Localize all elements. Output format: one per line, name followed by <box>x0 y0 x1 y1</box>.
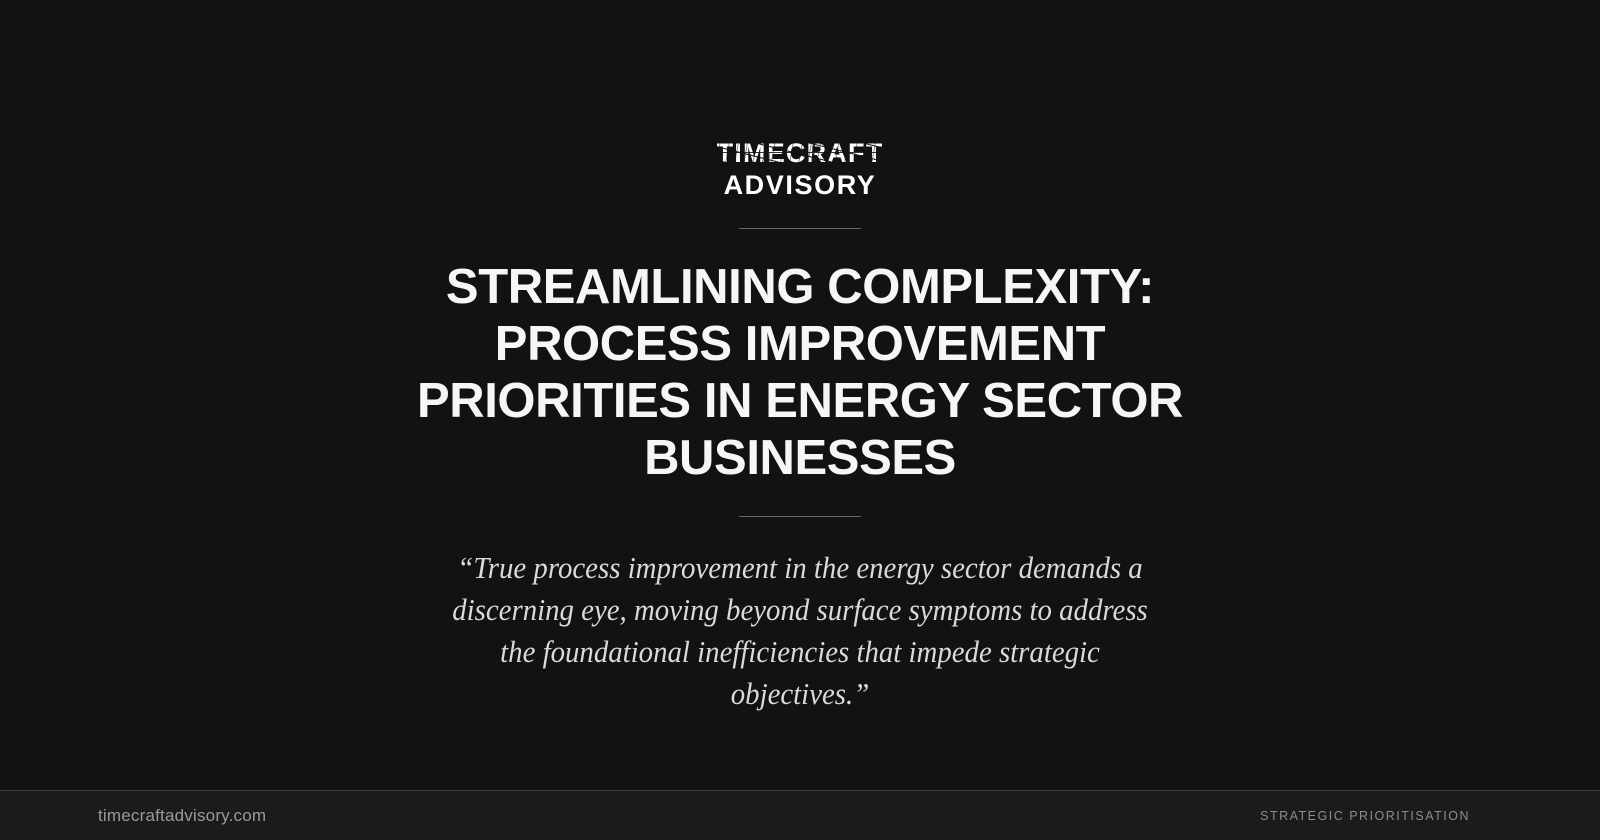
divider-under-logo <box>739 228 861 229</box>
page-title: STREAMLINING COMPLEXITY: PROCESS IMPROVE… <box>370 259 1230 486</box>
slide-footer: timecraftadvisory.com STRATEGIC PRIORITI… <box>0 790 1600 840</box>
footer-section-label: STRATEGIC PRIORITISATION <box>1260 809 1502 823</box>
presentation-slide: TIMECRAFT ADVISORY STREAMLINING COMPLEXI… <box>0 0 1600 840</box>
brand-logo: TIMECRAFT ADVISORY <box>717 140 884 201</box>
divider-under-title <box>739 516 861 517</box>
footer-website: timecraftadvisory.com <box>98 806 266 826</box>
brand-name-primary: TIMECRAFT <box>717 140 884 167</box>
pull-quote: “True process improvement in the energy … <box>447 547 1154 714</box>
brand-name-secondary: ADVISORY <box>724 170 877 201</box>
slide-content: TIMECRAFT ADVISORY STREAMLINING COMPLEXI… <box>0 0 1600 790</box>
